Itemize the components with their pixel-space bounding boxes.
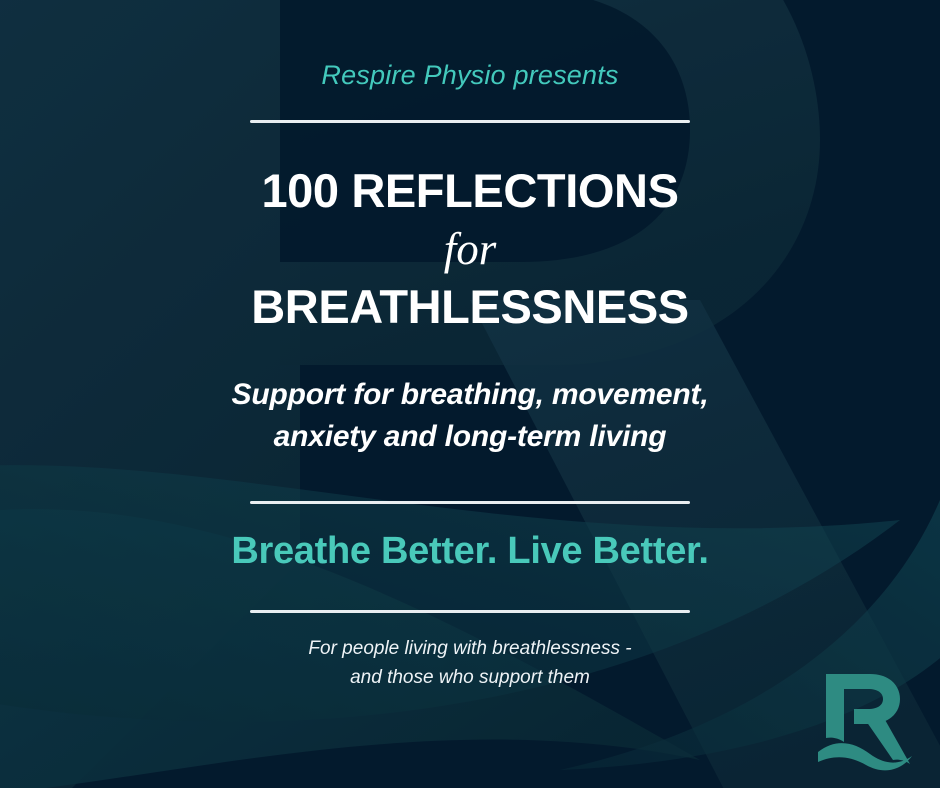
audience-line-2: and those who support them <box>308 664 631 693</box>
divider-bottom <box>250 610 690 613</box>
cover-audience: For people living with breathlessness - … <box>308 635 631 693</box>
title-line-primary: 100 REFLECTIONS <box>251 166 688 217</box>
divider-top <box>250 120 690 123</box>
presenter-line: Respire Physio presents <box>321 62 618 89</box>
divider-middle <box>250 501 690 504</box>
cover-title: 100 REFLECTIONS for BREATHLESSNESS <box>251 166 688 332</box>
r-logo-glyph <box>818 674 912 770</box>
cover-content: Respire Physio presents 100 REFLECTIONS … <box>0 0 940 788</box>
subtitle-line-1: Support for breathing, movement, <box>232 374 709 415</box>
respire-logo <box>814 668 920 772</box>
title-line-connector: for <box>251 219 688 280</box>
audience-line-1: For people living with breathlessness - <box>308 635 631 664</box>
cover-tagline: Breathe Better. Live Better. <box>231 532 708 570</box>
book-cover: Respire Physio presents 100 REFLECTIONS … <box>0 0 940 788</box>
subtitle-line-2: anxiety and long-term living <box>232 416 709 457</box>
cover-subtitle: Support for breathing, movement, anxiety… <box>232 374 709 457</box>
title-line-topic: BREATHLESSNESS <box>251 282 688 333</box>
